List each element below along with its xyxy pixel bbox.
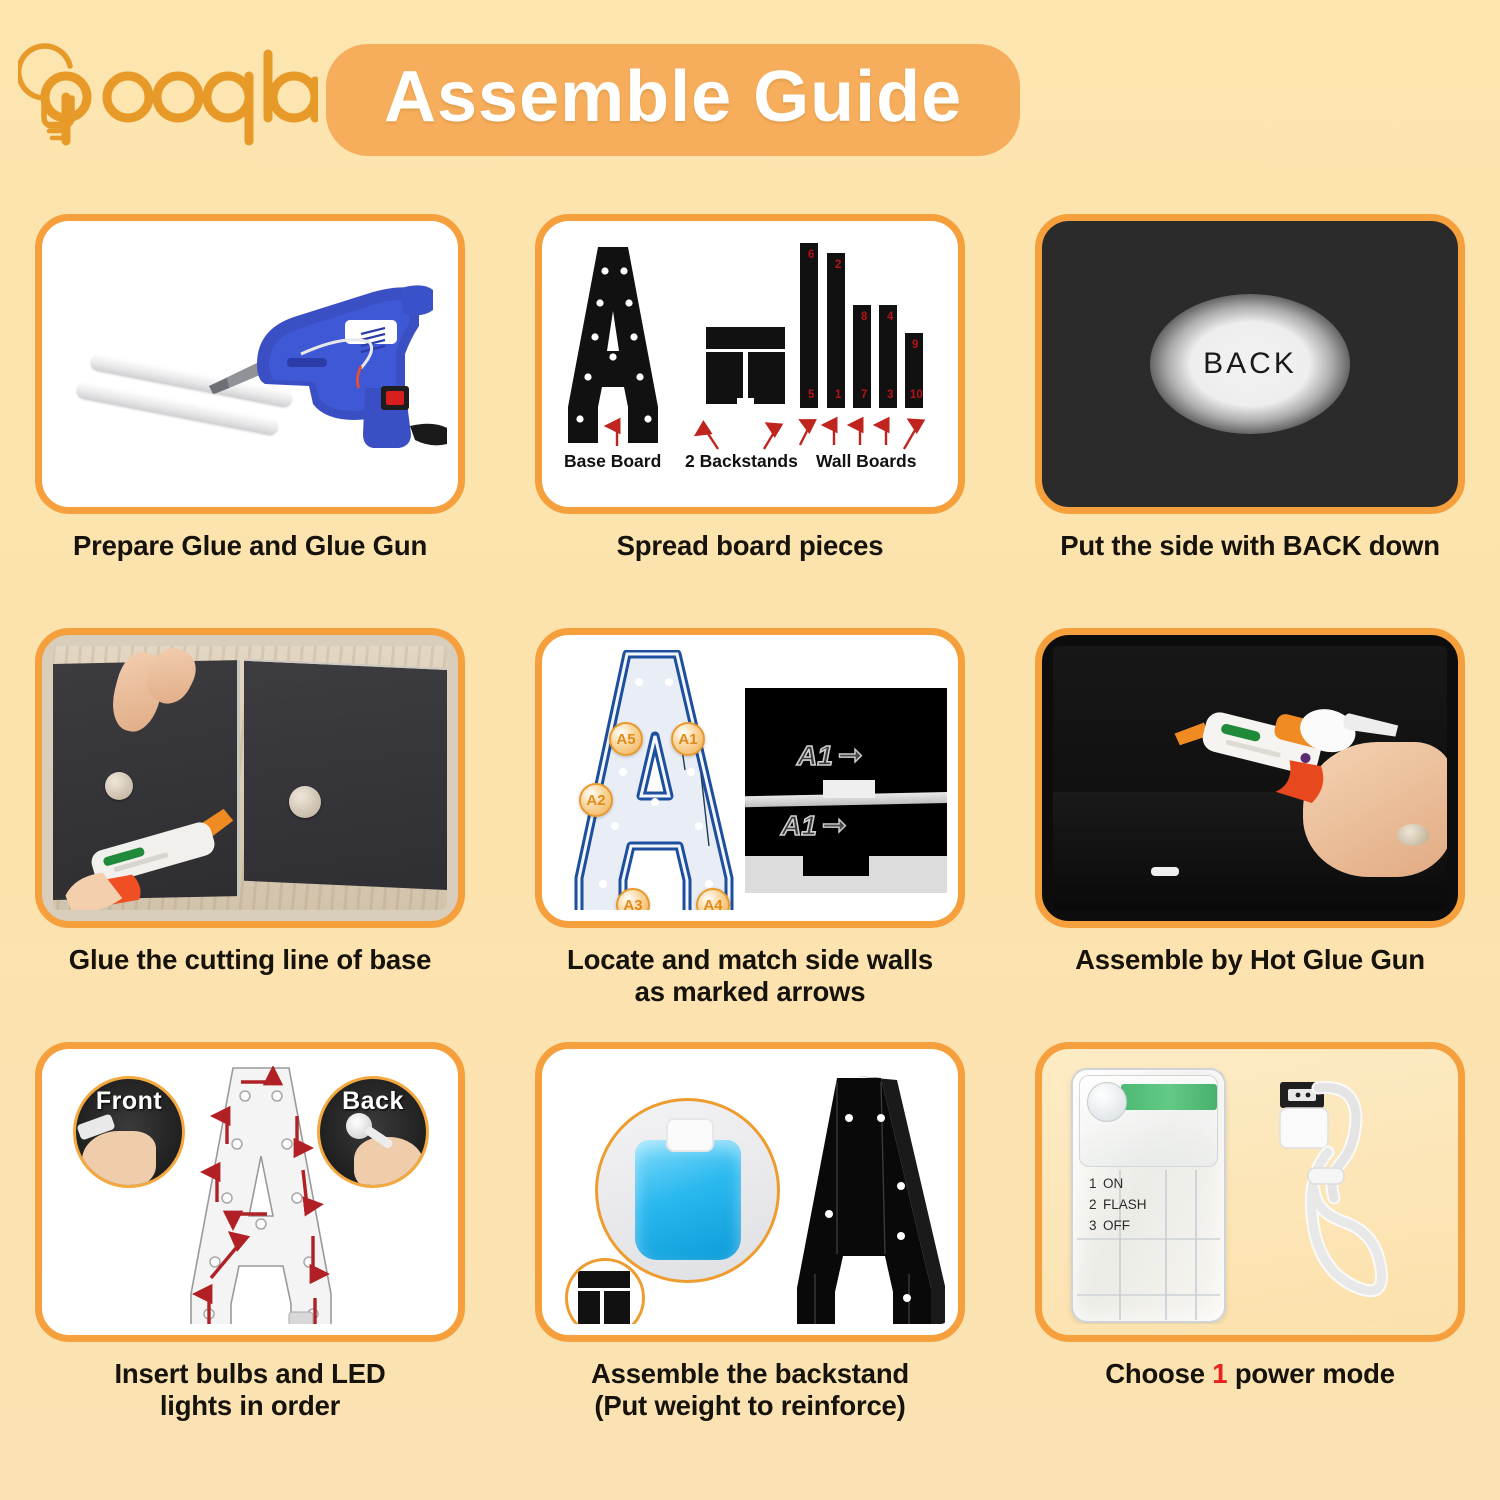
caption-line-1: Assemble the backstand (591, 1358, 909, 1389)
back-marking-text: BACK (1203, 347, 1297, 381)
base-panel-right (244, 659, 447, 891)
caption-line-2: as marked arrows (635, 976, 866, 1007)
wall-badge-a2: A2 (579, 783, 613, 817)
mode-row: 3OFF (1089, 1216, 1147, 1237)
lightbulb-icon (18, 36, 318, 164)
back-glow-spot: BACK (1150, 294, 1350, 434)
wall-badge-a1: A1 (671, 722, 705, 756)
glue-gun-illustration (53, 232, 447, 496)
brand-logo (18, 35, 318, 165)
assemble-guide-page: Assemble Guide (0, 0, 1500, 1500)
mode-number: 1 (1089, 1174, 1103, 1195)
step-caption: Assemble by Hot Glue Gun (1015, 944, 1485, 976)
mode-label: OFF (1103, 1218, 1130, 1233)
step-caption: Glue the cutting line of base (15, 944, 485, 976)
caption-line-1: Locate and match side walls (567, 944, 933, 975)
step-caption: Spread board pieces (515, 530, 985, 562)
a1-label: A1 (797, 740, 833, 772)
mode-number: 2 (1089, 1195, 1103, 1216)
mode-dial (1087, 1082, 1127, 1122)
base-notch (803, 856, 869, 876)
steps-grid: Prepare Glue and Glue Gun (0, 214, 1500, 1456)
backstand-piece (578, 1291, 600, 1324)
step-assemble-hot-glue: Assemble by Hot Glue Gun (1000, 628, 1500, 1042)
usb-cable-icon (1258, 1072, 1433, 1322)
caption-line-2: lights in order (160, 1390, 340, 1421)
locate-walls-diagram: A5 A1 A2 A3 A4 A1 ➞ A1 ➞ (553, 646, 947, 910)
water-bag-icon (635, 1140, 741, 1260)
a1-marker-top: A1 ➞ (797, 738, 863, 773)
step-insert-bulbs: Front Back Insert bulbs and LED lights i… (0, 1042, 500, 1456)
glue-gun-icon (205, 268, 447, 463)
step-assemble-backstand: Assemble the backstand (Put weight to re… (500, 1042, 1000, 1456)
step-image-card: 1ON 2FLASH 3OFF (1035, 1042, 1465, 1342)
power-components: 1ON 2FLASH 3OFF (1053, 1060, 1447, 1324)
title-banner: Assemble Guide (326, 44, 1020, 156)
step-spread-pieces: 6 5 2 1 8 7 4 3 9 10 (500, 214, 1000, 628)
mode-row: 2FLASH (1089, 1195, 1147, 1216)
step-image-card: Front Back (35, 1042, 465, 1342)
step-image-card (1035, 628, 1465, 928)
step-caption: Put the side with BACK down (1015, 530, 1485, 562)
arrow-right-icon: ➞ (838, 738, 863, 773)
step-back-side-down: BACK Put the side with BACK down (1000, 214, 1500, 628)
step-caption: Insert bulbs and LED lights in order (15, 1358, 485, 1422)
a1-label: A1 (781, 810, 817, 842)
back-marking-photo: BACK (1053, 232, 1447, 496)
step-caption: Locate and match side walls as marked ar… (515, 944, 985, 1008)
step-image-card: BACK (1035, 214, 1465, 514)
caption-line-1: Insert bulbs and LED (114, 1358, 385, 1389)
mode-row: 1ON (1089, 1174, 1147, 1195)
back-detail-bubble: Back (317, 1076, 429, 1188)
backstand-piece-closeup (565, 1258, 645, 1324)
step-prepare-glue: Prepare Glue and Glue Gun (0, 214, 500, 628)
water-weight-photo (595, 1098, 780, 1283)
wall-match-photo: A1 ➞ A1 ➞ (745, 688, 947, 893)
step-choose-power-mode: 1ON 2FLASH 3OFF (1000, 1042, 1500, 1456)
back-label: Back (342, 1087, 404, 1116)
step-caption: Prepare Glue and Glue Gun (15, 530, 485, 562)
step-caption: Assemble the backstand (Put weight to re… (515, 1358, 985, 1422)
step-image-card: A5 A1 A2 A3 A4 A1 ➞ A1 ➞ (535, 628, 965, 928)
hot-glue-assembly-photo (1053, 646, 1447, 910)
page-header: Assemble Guide (0, 0, 1500, 200)
step-image-card (535, 1042, 965, 1342)
a1-marker-bottom: A1 ➞ (781, 808, 847, 843)
hand-icon (82, 1131, 156, 1188)
base-board-label: Base Board (564, 451, 661, 472)
step-glue-cutting-line: Glue the cutting line of base (0, 628, 500, 1042)
power-mode-number: 1 (1212, 1358, 1227, 1389)
backstands-label: 2 Backstands (685, 451, 798, 472)
battery-box-icon: 1ON 2FLASH 3OFF (1071, 1068, 1226, 1323)
mode-label: FLASH (1103, 1197, 1147, 1212)
wall-badge-a5: A5 (609, 722, 643, 756)
led-order-diagram: Front Back (53, 1060, 447, 1324)
caption-text-pre: Choose (1105, 1358, 1212, 1389)
caption-text-post: power mode (1227, 1358, 1394, 1389)
mode-label: ON (1103, 1176, 1123, 1191)
step-image-card (35, 628, 465, 928)
front-label: Front (96, 1087, 162, 1116)
board-pieces-diagram: 6 5 2 1 8 7 4 3 9 10 (542, 221, 958, 507)
step-image-card (35, 214, 465, 514)
page-title: Assemble Guide (384, 61, 962, 133)
magnet-icon (105, 772, 133, 800)
step-caption: Choose 1 power mode (1015, 1358, 1485, 1390)
front-detail-bubble: Front (73, 1076, 185, 1188)
letter-a-outline (559, 650, 749, 910)
wall-boards-label: Wall Boards (816, 451, 916, 472)
backstand-piece (604, 1291, 630, 1324)
power-mode-list: 1ON 2FLASH 3OFF (1089, 1174, 1147, 1237)
letter-a-backstand-3d (785, 1074, 947, 1324)
magnet-icon (289, 786, 321, 818)
arrow-right-icon: ➞ (822, 808, 847, 843)
wall-board-tab (823, 780, 875, 798)
circuit-board (1121, 1084, 1217, 1110)
step-image-card: 6 5 2 1 8 7 4 3 9 10 (535, 214, 965, 514)
backstand-diagram (553, 1060, 947, 1324)
caption-line-2: (Put weight to reinforce) (594, 1390, 905, 1421)
step-locate-side-walls: A5 A1 A2 A3 A4 A1 ➞ A1 ➞ (500, 628, 1000, 1042)
backstand-piece (578, 1271, 630, 1288)
mode-number: 3 (1089, 1216, 1103, 1237)
glue-stick-fragment (1151, 867, 1179, 876)
magnet-icon (1397, 824, 1429, 846)
glue-base-photo (53, 646, 447, 910)
